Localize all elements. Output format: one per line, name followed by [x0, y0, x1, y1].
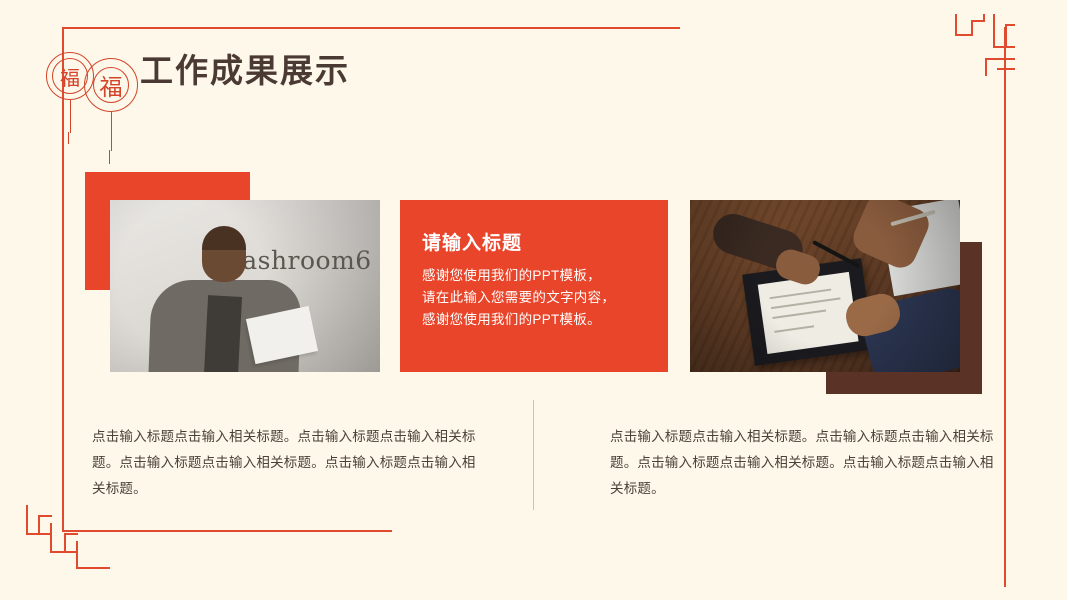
- page-title: 工作成果展示: [140, 44, 350, 92]
- slide-canvas: 福 福 工作成果展示 mashroom6 请输入标题 感谢您使用我们的PPT模板…: [0, 0, 1067, 600]
- frame-line-right: [1004, 27, 1006, 587]
- lantern-decoration: 福 福: [44, 42, 138, 147]
- lantern-glyph-left: 福: [60, 62, 80, 91]
- highlight-card-heading: 请输入标题: [422, 228, 646, 255]
- highlight-card: 请输入标题 感谢您使用我们的PPT模板， 请在此输入您需要的文字内容， 感谢您使…: [400, 200, 668, 372]
- frame-line-top: [62, 27, 680, 29]
- photo-presenter: mashroom6: [110, 200, 380, 372]
- corner-ornament-top-right: [955, 14, 1015, 84]
- body-text-right: 点击输入标题点击输入相关标题。点击输入标题点击输入相关标题。点击输入标题点击输入…: [610, 424, 995, 502]
- photo-signing-vignette: [690, 200, 960, 372]
- highlight-card-line-2: 请在此输入您需要的文字内容，: [422, 287, 646, 309]
- lantern-glyph-right: 福: [100, 68, 123, 102]
- photo-presenter-shirt: [204, 295, 242, 372]
- corner-ornament-bottom-left: [20, 505, 120, 580]
- highlight-card-line-1: 感谢您使用我们的PPT模板，: [422, 265, 646, 287]
- body-text-left: 点击输入标题点击输入相关标题。点击输入标题点击输入相关标题。点击输入标题点击输入…: [92, 424, 477, 502]
- text-column-divider: [533, 400, 534, 510]
- highlight-card-line-3: 感谢您使用我们的PPT模板。: [422, 309, 646, 331]
- photo-signing-contract: [690, 200, 960, 372]
- lantern-ornament-right: 福: [84, 58, 138, 112]
